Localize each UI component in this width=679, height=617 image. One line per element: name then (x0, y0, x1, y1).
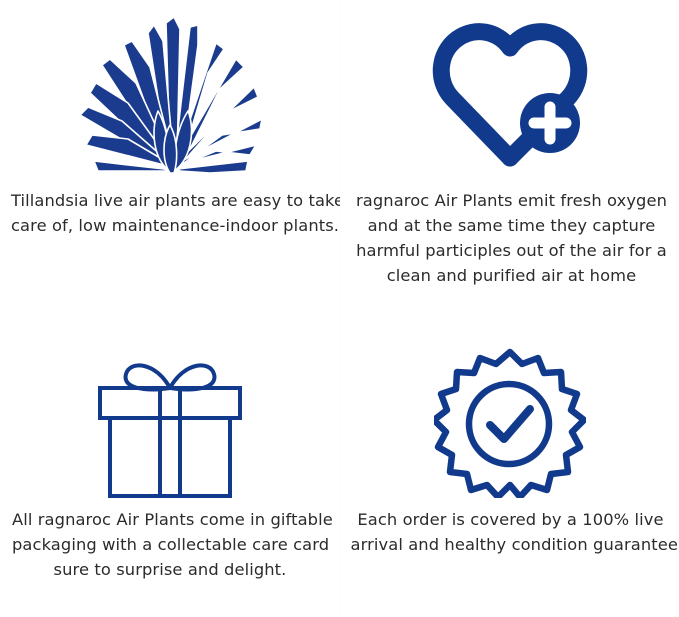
feature-text-line: Tillandsia live air plants are easy to t… (11, 188, 331, 213)
feature-text-line: Each order is covered by a 100% live (351, 507, 671, 532)
feature-text-line: ragnaroc Air Plants emit fresh oxygen (351, 188, 673, 213)
air-plant-icon (70, 11, 270, 179)
heart-plus-icon-wrap (340, 0, 679, 186)
feature-text-line: and at the same time they capture (351, 213, 673, 238)
feature-cell-live-arrival-guarantee: Each order is covered by a 100% live arr… (340, 309, 679, 617)
feature-cell-giftable-packaging: All ragnaroc Air Plants come in giftable… (0, 309, 340, 617)
feature-text-line: clean and purified air at home (351, 263, 673, 288)
feature-text-live-arrival-guarantee: Each order is covered by a 100% live arr… (345, 507, 675, 557)
feature-text-line: sure to surprise and delight. (12, 557, 328, 582)
feature-text-line: packaging with a collectable care card (12, 532, 328, 557)
feature-text-fresh-oxygen: ragnaroc Air Plants emit fresh oxygen an… (345, 188, 675, 288)
feature-text-line: arrival and healthy condition guarantee. (351, 532, 671, 557)
feature-text-line: care of, low maintenance-indoor plants. (11, 213, 331, 238)
feature-text-giftable-packaging: All ragnaroc Air Plants come in giftable… (4, 507, 336, 582)
feature-grid: Tillandsia live air plants are easy to t… (0, 0, 679, 617)
feature-text-air-plant-care: Tillandsia live air plants are easy to t… (5, 188, 335, 238)
guarantee-badge-icon (434, 346, 586, 498)
air-plant-icon-wrap (0, 0, 340, 186)
heart-plus-icon (432, 19, 588, 171)
feature-cell-air-plant-care: Tillandsia live air plants are easy to t… (0, 0, 340, 309)
feature-text-line: All ragnaroc Air Plants come in giftable (12, 507, 328, 532)
feature-text-line: harmful participles out of the air for a (351, 238, 673, 263)
gift-box-icon-wrap (0, 309, 340, 505)
gift-box-icon (82, 344, 258, 500)
feature-cell-fresh-oxygen: ragnaroc Air Plants emit fresh oxygen an… (340, 0, 679, 309)
guarantee-badge-icon-wrap (340, 309, 679, 505)
